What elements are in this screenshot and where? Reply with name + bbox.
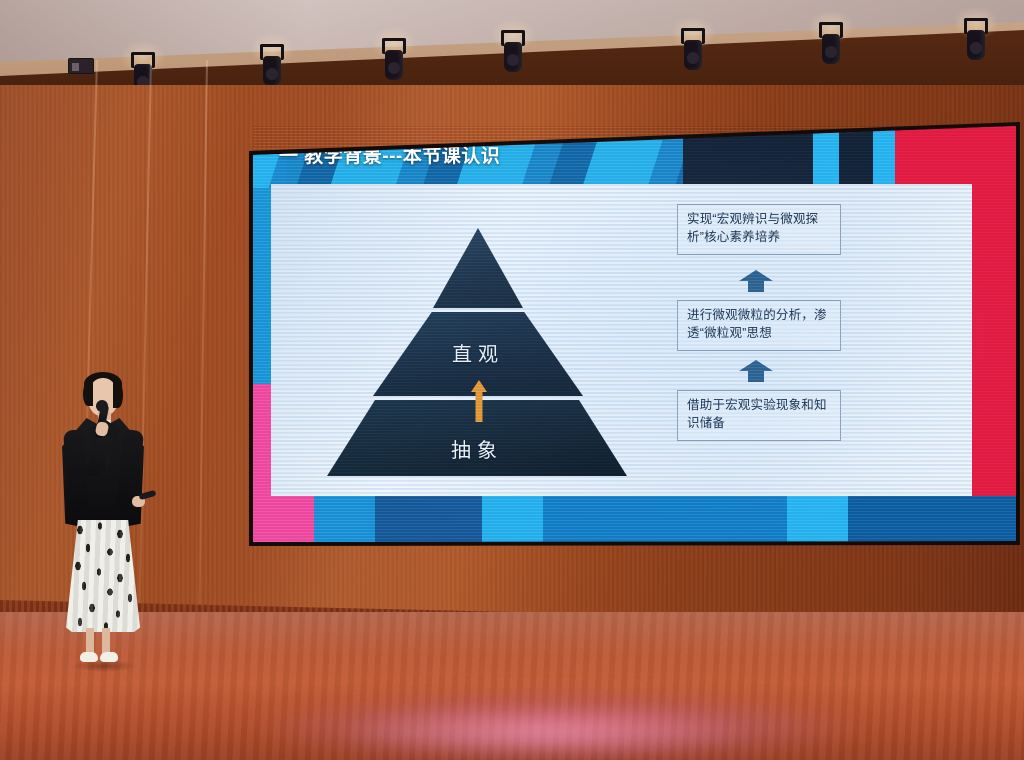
presenter-shoe-left	[80, 652, 98, 662]
spotlight-lens	[266, 68, 278, 80]
deco-cyan-bar	[813, 126, 839, 188]
wall-junction-box	[68, 58, 94, 74]
deco-bottom-band	[253, 496, 1016, 542]
spotlight-icon	[381, 38, 407, 82]
spotlight-lens	[970, 42, 982, 54]
note-box-outcome: 实现“宏观辨识与微观探析”核心素养培养	[677, 204, 841, 255]
presenter-skirt-pleats	[66, 520, 140, 632]
upward-orange-arrow-icon	[471, 380, 487, 422]
presenter-hair-side	[83, 382, 93, 406]
spotlight-icon	[259, 44, 285, 88]
spotlight-icon	[963, 18, 989, 62]
auditorium-scene: 一 教学背景---本节课认识 直观 抽象	[0, 0, 1024, 760]
spotlight-lens	[388, 62, 400, 74]
pyramid-tier-bottom-label: 抽象	[327, 434, 627, 463]
spotlight-icon	[500, 30, 526, 74]
deco-navy-top	[839, 126, 873, 188]
note-box-analysis: 进行微观微粒的分析，渗透“微粒观”思想	[677, 300, 841, 351]
deco-red-top	[895, 126, 1016, 188]
slide-content-area: 直观 抽象 课型：概念原理课 实现“宏观辨识与微观探析”核心素养培养	[271, 184, 972, 496]
pyramid-diagram: 直观 抽象 课型：概念原理课	[327, 228, 627, 478]
presenter-hair-side	[113, 382, 123, 408]
up-arrow-icon	[739, 270, 773, 292]
presentation-slide[interactable]: 一 教学背景---本节课认识 直观 抽象	[253, 126, 1016, 542]
deco-cyan-bar	[873, 126, 895, 188]
spotlight-lens	[687, 52, 699, 64]
presenter	[36, 372, 156, 672]
spotlight-icon	[818, 22, 844, 66]
up-arrow-icon	[739, 360, 773, 382]
spotlight-lens	[507, 54, 519, 66]
pyramid-tier-middle-label: 直观	[373, 338, 583, 367]
spotlight-lens	[825, 46, 837, 58]
pyramid-tier-top	[433, 228, 523, 308]
note-box-foundation: 借助于宏观实验现象和知识储备	[677, 390, 841, 441]
spotlight-icon	[680, 28, 706, 72]
presenter-shoe-right	[100, 652, 118, 662]
